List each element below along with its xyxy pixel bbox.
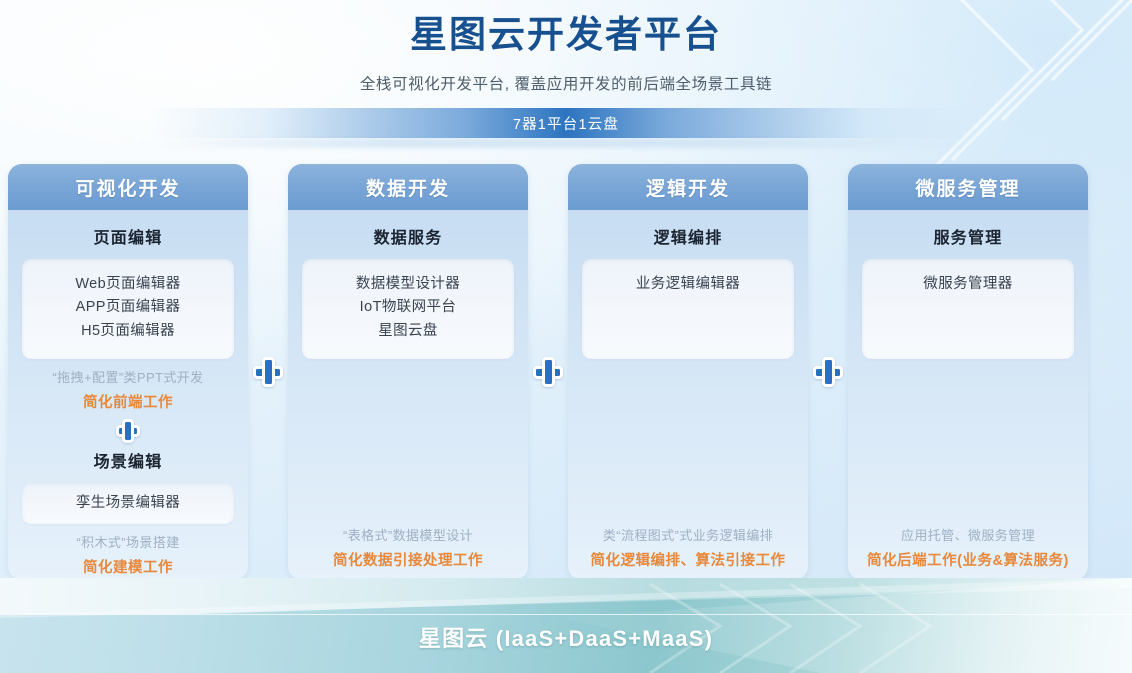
page-subtitle: 全栈可视化开发平台, 覆盖应用开发的前后端全场景工具链: [0, 72, 1132, 94]
card-item: 孪生场景编辑器: [30, 492, 226, 515]
page-title: 星图云开发者平台: [0, 12, 1132, 58]
note-secondary: “积木式”场景搭建: [22, 532, 234, 551]
footer-label: 星图云 (IaaS+DaaS+MaaS): [419, 621, 713, 653]
group-title: 数据服务: [302, 224, 514, 248]
column-body: 逻辑编排 业务逻辑编辑器 类“流程图式”式业务逻辑编排 简化逻辑编排、算法引接工…: [568, 210, 808, 580]
footer-label-wrap: 星图云 (IaaS+DaaS+MaaS): [0, 578, 1132, 673]
card-item: APP页面编辑器: [30, 296, 226, 319]
plus-divider-inline: [22, 421, 234, 441]
note-secondary: 类“流程图式”式业务逻辑编排: [582, 525, 794, 544]
column-microservice-management[interactable]: 微服务管理 服务管理 微服务管理器 应用托管、微服务管理 简化后端工作(业务&算…: [848, 164, 1088, 580]
group-title: 页面编辑: [22, 224, 234, 248]
flex-spacer: [302, 359, 514, 517]
flex-spacer: [582, 359, 794, 517]
plus-separator-1: [248, 164, 288, 580]
note-highlight: 简化后端工作(业务&算法服务): [862, 549, 1074, 570]
column-header: 数据开发: [288, 164, 528, 210]
ribbon-label: 7器1平台1云盘: [513, 113, 619, 134]
footer-band: 星图云 (IaaS+DaaS+MaaS): [0, 578, 1132, 673]
flex-spacer: [862, 359, 1074, 517]
column-body: 页面编辑 Web页面编辑器 APP页面编辑器 H5页面编辑器 “拖拽+配置”类P…: [8, 210, 248, 580]
item-card[interactable]: 孪生场景编辑器: [22, 483, 234, 524]
column-title: 可视化开发: [75, 174, 180, 201]
column-title: 逻辑开发: [646, 174, 730, 201]
column-header: 逻辑开发: [568, 164, 808, 210]
plus-separator-2: [528, 164, 568, 580]
plus-icon: [255, 359, 281, 385]
infographic-canvas: 星图云开发者平台 全栈可视化开发平台, 覆盖应用开发的前后端全场景工具链 7器1…: [0, 0, 1132, 673]
card-item: 星图云盘: [310, 320, 506, 343]
column-body: 服务管理 微服务管理器 应用托管、微服务管理 简化后端工作(业务&算法服务): [848, 210, 1088, 580]
note-highlight: 简化逻辑编排、算法引接工作: [582, 549, 794, 570]
item-card[interactable]: 微服务管理器: [862, 259, 1074, 359]
columns-row: 可视化开发 页面编辑 Web页面编辑器 APP页面编辑器 H5页面编辑器 “拖拽…: [8, 164, 1124, 580]
card-item: 数据模型设计器: [310, 273, 506, 296]
note-highlight: 简化建模工作: [22, 556, 234, 577]
ribbon-shadow: [150, 138, 982, 148]
item-card[interactable]: 数据模型设计器 IoT物联网平台 星图云盘: [302, 259, 514, 359]
header: 星图云开发者平台 全栈可视化开发平台, 覆盖应用开发的前后端全场景工具链: [0, 0, 1132, 94]
group-title: 场景编辑: [22, 448, 234, 472]
note-highlight: 简化数据引接处理工作: [302, 549, 514, 570]
item-card[interactable]: Web页面编辑器 APP页面编辑器 H5页面编辑器: [22, 259, 234, 359]
item-card[interactable]: 业务逻辑编辑器: [582, 259, 794, 359]
plus-separator-3: [808, 164, 848, 580]
plus-icon: [535, 359, 561, 385]
ribbon-band: 7器1平台1云盘: [150, 108, 982, 138]
card-item: H5页面编辑器: [30, 320, 226, 343]
column-title: 微服务管理: [915, 174, 1020, 201]
note-secondary: “拖拽+配置”类PPT式开发: [22, 367, 234, 386]
plus-icon: [815, 359, 841, 385]
plus-icon: [118, 421, 138, 441]
column-data-development[interactable]: 数据开发 数据服务 数据模型设计器 IoT物联网平台 星图云盘 “表格式”数据模…: [288, 164, 528, 580]
column-title: 数据开发: [366, 174, 450, 201]
column-header: 微服务管理: [848, 164, 1088, 210]
column-logic-development[interactable]: 逻辑开发 逻辑编排 业务逻辑编辑器 类“流程图式”式业务逻辑编排 简化逻辑编排、…: [568, 164, 808, 580]
card-item: IoT物联网平台: [310, 296, 506, 319]
card-item: 微服务管理器: [870, 273, 1066, 296]
column-visual-development[interactable]: 可视化开发 页面编辑 Web页面编辑器 APP页面编辑器 H5页面编辑器 “拖拽…: [8, 164, 248, 580]
note-secondary: “表格式”数据模型设计: [302, 525, 514, 544]
card-item: Web页面编辑器: [30, 273, 226, 296]
group-title: 逻辑编排: [582, 224, 794, 248]
group-title: 服务管理: [862, 224, 1074, 248]
column-header: 可视化开发: [8, 164, 248, 210]
note-highlight: 简化前端工作: [22, 391, 234, 412]
column-body: 数据服务 数据模型设计器 IoT物联网平台 星图云盘 “表格式”数据模型设计 简…: [288, 210, 528, 580]
note-secondary: 应用托管、微服务管理: [862, 525, 1074, 544]
card-item: 业务逻辑编辑器: [590, 273, 786, 296]
